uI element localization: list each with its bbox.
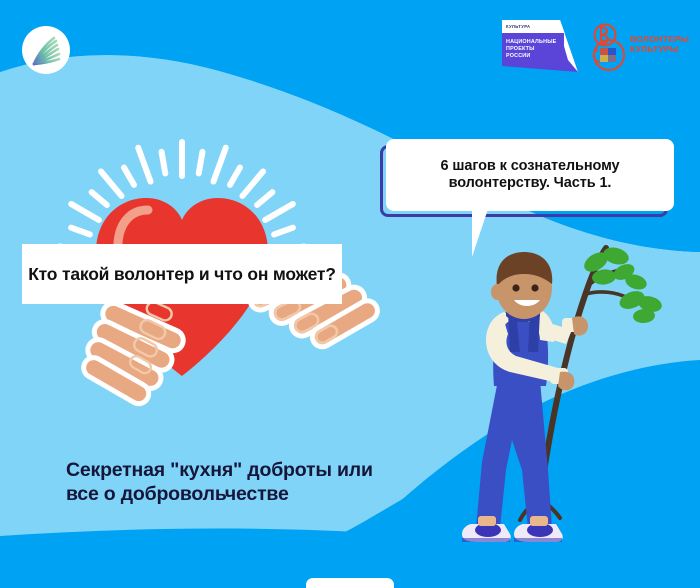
volunteers-of-culture-logo: ВОЛОНТЕРЫ КУЛЬТУРЫ [588,22,680,74]
national-projects-logo: КУЛЬТУРА НАЦИОНАЛЬНЫЕ ПРОЕКТЫ РОССИИ [502,20,578,74]
person-legs [476,380,552,528]
bottom-headline-text: Секретная "кухня" доброты или все о добр… [66,458,396,506]
speech-bubble-text: 6 шагов к сознательному волонтерству. Ча… [400,158,660,192]
speech-bubble-body: 6 шагов к сознательному волонтерству. Ча… [386,139,674,211]
bottom-headline: Секретная "кухня" доброты или все о добр… [66,458,396,506]
vk-logo-text: ВОЛОНТЕРЫ КУЛЬТУРЫ [630,34,689,54]
vk-monogram-icon [588,22,634,72]
person-hand-upper [572,316,588,335]
speech-bubble-tail [472,209,510,257]
person-ear [491,284,503,300]
heart-banner-text: Кто такой волонтер и что он может? [28,264,336,285]
next-slide-indicator[interactable] [306,578,394,588]
person-hand-lower [558,372,574,391]
heart-banner: Кто такой волонтер и что он может? [22,244,342,304]
fan-gradient-icon [26,30,66,70]
brand-logo [22,26,70,74]
sapling-leaves [581,245,664,324]
np-body-labels: НАЦИОНАЛЬНЫЕ ПРОЕКТЫ РОССИИ [502,33,564,66]
slide-canvas: КУЛЬТУРА НАЦИОНАЛЬНЫЕ ПРОЕКТЫ РОССИИ ВОЛ… [0,0,700,588]
np-top-label: КУЛЬТУРА [502,20,560,33]
speech-bubble: 6 шагов к сознательному волонтерству. Ча… [386,139,674,211]
person-eye-right [531,284,538,291]
person-eye-left [512,284,519,291]
